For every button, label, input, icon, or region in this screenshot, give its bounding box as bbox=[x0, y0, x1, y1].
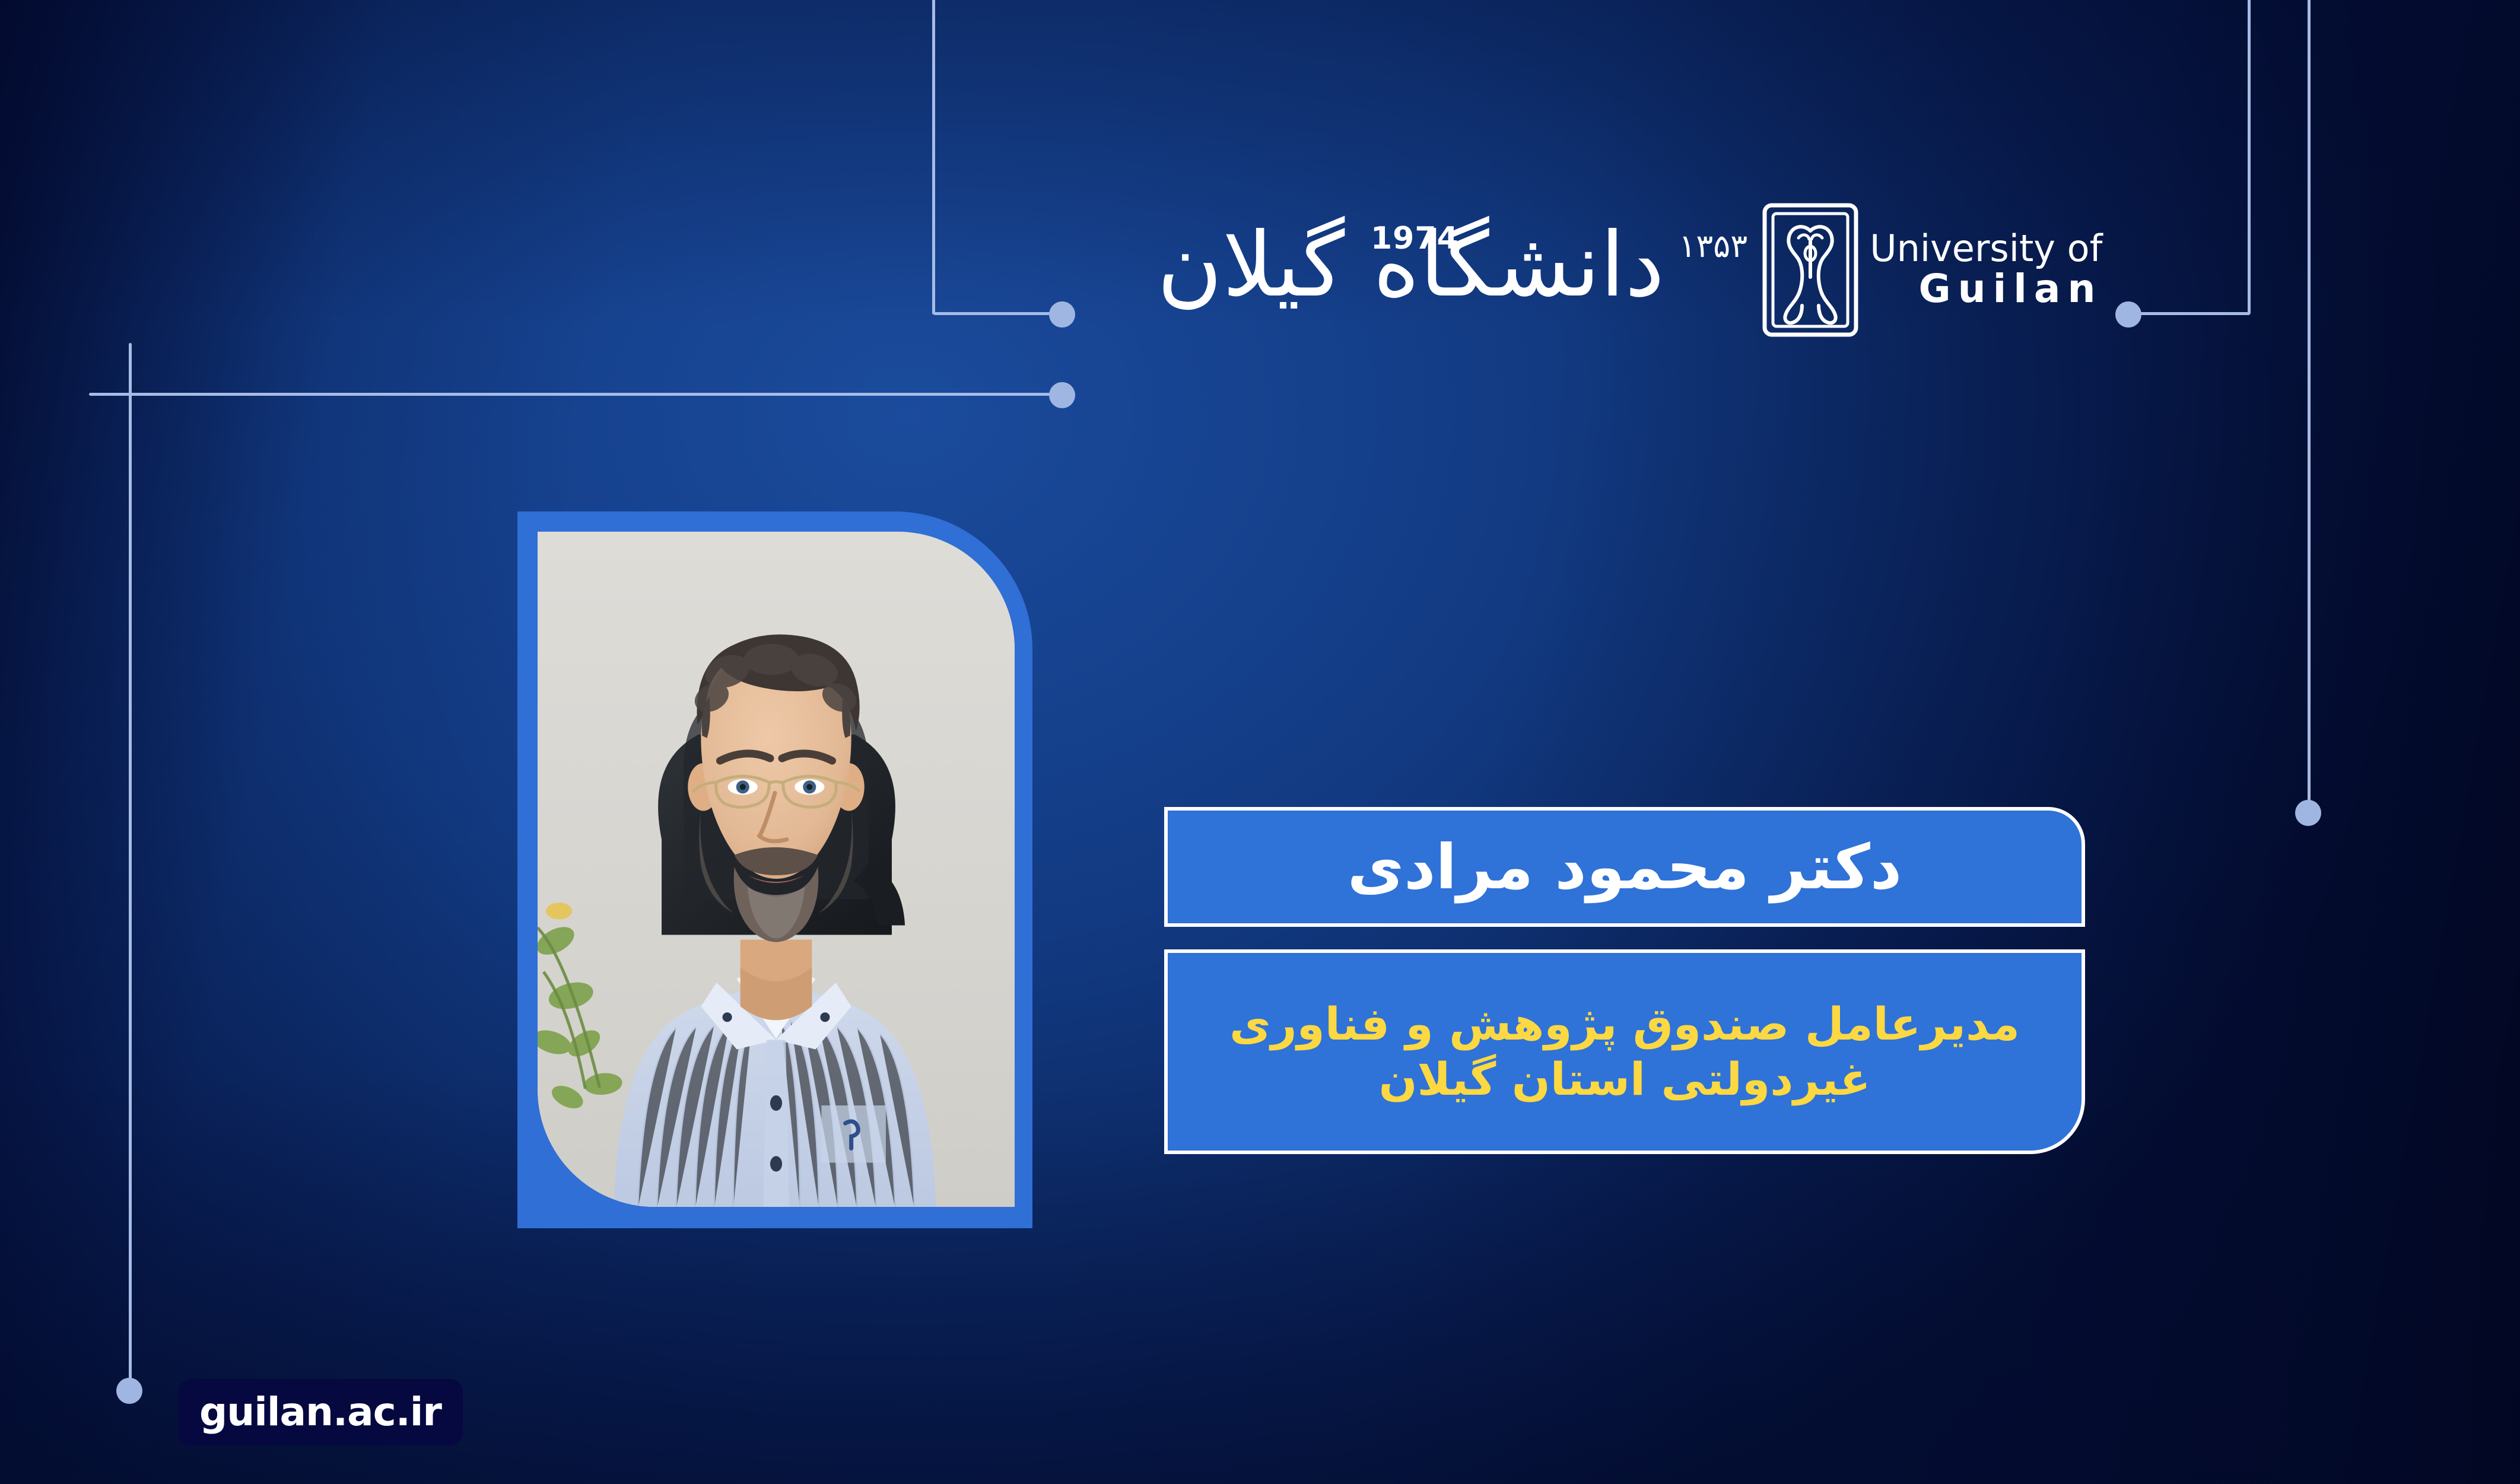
logo-english-year: 1974 bbox=[1371, 221, 1459, 256]
speaker-title-badge: مدیرعامل صندوق پژوهش و فناوری غیردولتی ا… bbox=[1164, 949, 2085, 1154]
speaker-photo bbox=[538, 532, 1015, 1207]
speaker-title-line2: غیردولتی استان گیلان bbox=[1379, 1052, 1871, 1107]
speaker-name: دکتر محمود مرادی bbox=[1348, 836, 1902, 898]
decor-line-long-horizontal bbox=[89, 393, 1068, 396]
university-logo: دانشگاه گیلان ۱۳۵۳ University of Guilan bbox=[1157, 196, 2089, 344]
decor-line-far-right-vertical bbox=[2308, 0, 2311, 812]
decor-line-top-horizontal bbox=[933, 312, 1067, 315]
website-url: guilan.ac.ir bbox=[199, 1393, 441, 1432]
logo-english-line1: University of bbox=[1870, 227, 2102, 270]
poster-canvas: دانشگاه گیلان ۱۳۵۳ University of Guilan … bbox=[0, 0, 2520, 1484]
decor-dot-mid-right bbox=[1049, 382, 1075, 408]
website-url-pill[interactable]: guilan.ac.ir bbox=[178, 1379, 463, 1445]
speaker-name-badge: دکتر محمود مرادی bbox=[1164, 807, 2085, 927]
decor-line-top-vertical bbox=[932, 0, 935, 314]
decor-dot-bottom-left bbox=[116, 1378, 142, 1404]
logo-english-block: University of Guilan bbox=[1870, 229, 2102, 311]
decor-line-right-vertical bbox=[2248, 0, 2251, 314]
decor-dot-far-right-bottom bbox=[2295, 800, 2321, 826]
decor-line-right-horizontal bbox=[2130, 312, 2250, 315]
logo-persian-year: ۱۳۵۳ bbox=[1679, 230, 1747, 262]
logo-english-line2: Guilan bbox=[1919, 266, 2103, 312]
decor-dot-top-right bbox=[1049, 301, 1075, 328]
guilan-university-emblem-icon bbox=[1762, 202, 1859, 338]
portrait-frame bbox=[517, 511, 1032, 1228]
speaker-title-line1: مدیرعامل صندوق پژوهش و فناوری bbox=[1229, 997, 2020, 1052]
decor-line-left-vertical bbox=[129, 343, 132, 1391]
decor-dot-right-inner bbox=[2115, 301, 2141, 328]
